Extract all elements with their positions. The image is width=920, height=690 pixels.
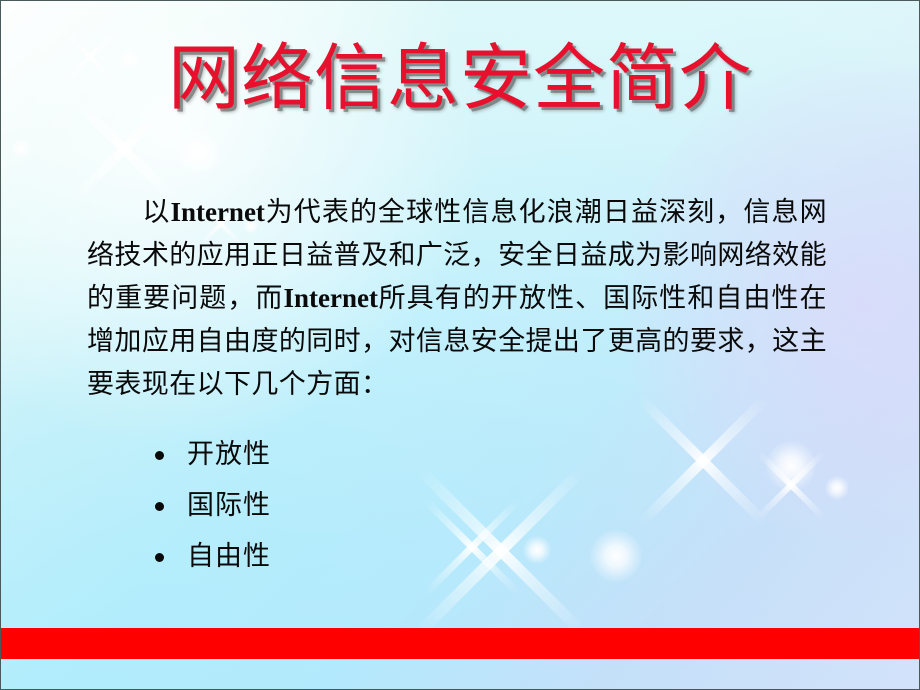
list-item: 开放性 <box>151 429 271 480</box>
bullet-dot-icon <box>155 451 164 460</box>
slide-bullet-list: 开放性 国际性 自由性 <box>151 429 271 582</box>
bottom-accent-bar <box>1 628 919 659</box>
body-text-prefix: 以 <box>142 197 170 227</box>
bullet-dot-icon <box>155 502 164 511</box>
list-item-label: 自由性 <box>187 541 271 571</box>
body-text-internet-2: Internet <box>283 283 377 313</box>
list-item-label: 开放性 <box>187 439 271 469</box>
bullet-dot-icon <box>155 553 164 562</box>
list-item: 自由性 <box>151 531 271 582</box>
list-item-label: 国际性 <box>187 490 271 520</box>
list-item: 国际性 <box>151 480 271 531</box>
presentation-slide: 网络信息安全简介 以Internet为代表的全球性信息化浪潮日益深刻，信息网络技… <box>0 0 920 690</box>
slide-title: 网络信息安全简介 <box>1 43 919 115</box>
slide-body-paragraph: 以Internet为代表的全球性信息化浪潮日益深刻，信息网络技术的应用正日益普及… <box>87 191 827 406</box>
body-text-internet-1: Internet <box>170 197 264 227</box>
